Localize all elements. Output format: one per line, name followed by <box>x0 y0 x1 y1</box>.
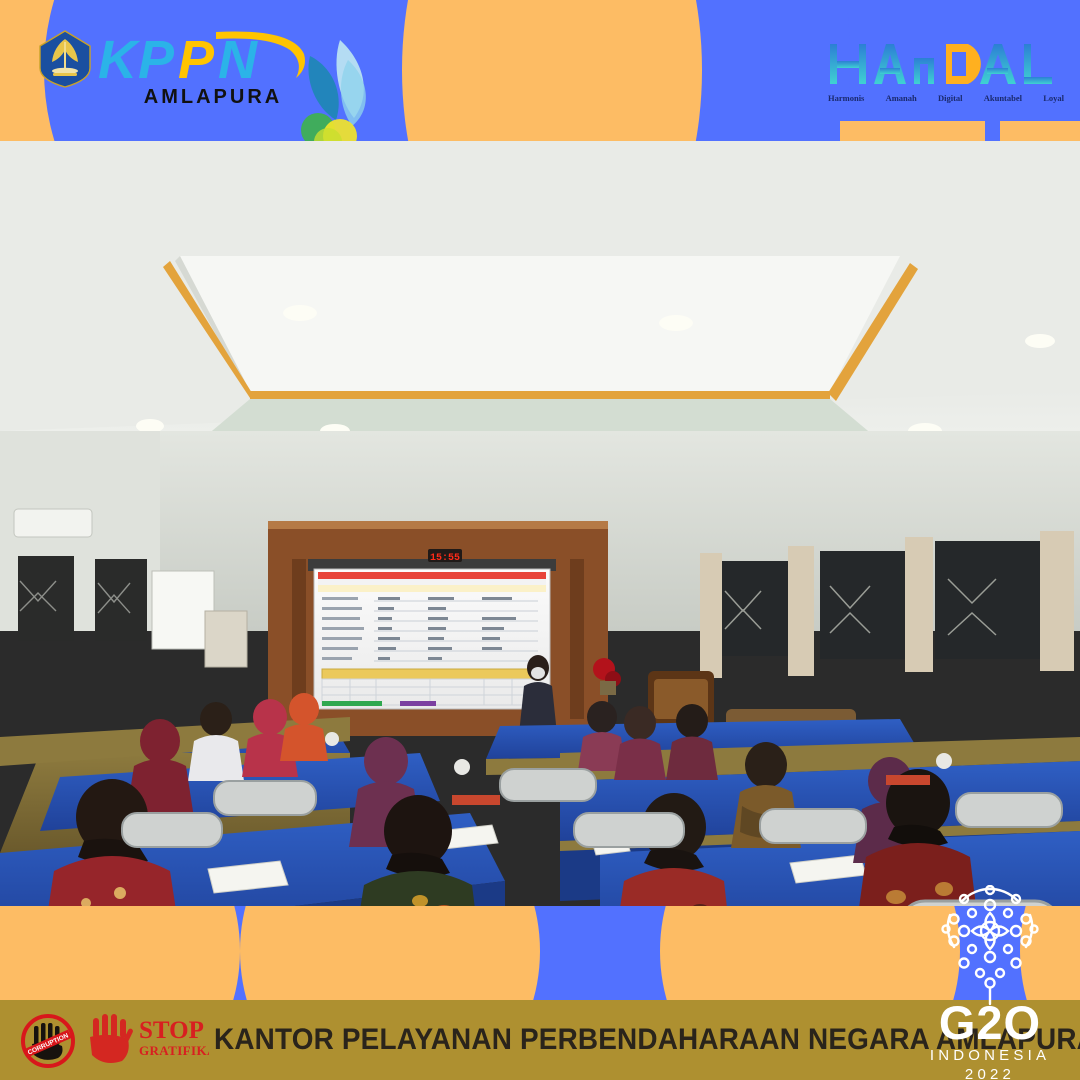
meeting-room-scene: 15:55 <box>0 141 1080 906</box>
decor-petal-2 <box>240 906 540 1000</box>
kppn-logo: K P P N AMLAPURA <box>38 28 358 118</box>
event-photograph: 15:55 <box>0 141 1080 906</box>
g20-main-label: G2O <box>924 1001 1056 1046</box>
g20-year-label: 2022 <box>924 1066 1056 1080</box>
svg-text:P: P <box>178 30 215 90</box>
kemenkeu-emblem <box>38 30 92 88</box>
svg-text:N: N <box>218 30 258 90</box>
handal-value-digital: Digital <box>938 93 963 103</box>
bottom-banner: CORRUPTION STOP GRATIFIKASI KANTOR PELAY… <box>0 1000 1080 1080</box>
g20-country-label: INDONESIA <box>924 1046 1056 1066</box>
stop-gratifikasi-icon: STOP GRATIFIKASI <box>84 1012 209 1070</box>
bottom-decoration-strip <box>0 906 1080 1000</box>
poster-canvas: K P P N AMLAPURA <box>0 0 1080 1080</box>
handal-logo: Harmonis Amanah Digital Akuntabel Loyal <box>828 40 1064 115</box>
handal-values-list: Harmonis Amanah Digital Akuntabel Loyal <box>828 90 1064 106</box>
stop-gratifikasi-line1: STOP <box>139 1017 204 1044</box>
handal-value-amanah: Amanah <box>886 93 917 103</box>
led-clock-display: 15:55 <box>430 553 460 564</box>
stop-gratifikasi-line2: GRATIFIKASI <box>139 1043 209 1058</box>
handal-value-harmonis: Harmonis <box>828 93 864 103</box>
decor-petal-3 <box>660 906 960 1000</box>
svg-text:P: P <box>138 30 175 90</box>
g20-logo-text: G2O INDONESIA 2022 <box>924 1001 1056 1080</box>
top-banner-orange-strip-b <box>1000 121 1080 141</box>
leaf-petal-mark <box>288 38 383 141</box>
svg-text:K: K <box>98 30 141 90</box>
stop-korupsi-icon: CORRUPTION <box>20 1014 76 1068</box>
top-banner-orange-notch <box>402 0 702 141</box>
decor-petal-1 <box>0 906 240 1000</box>
handal-value-akuntabel: Akuntabel <box>984 93 1022 103</box>
top-banner: K P P N AMLAPURA <box>0 0 1080 141</box>
handal-wordmark <box>828 40 1064 88</box>
top-banner-orange-strip-a <box>840 121 985 141</box>
handal-value-loyal: Loyal <box>1043 93 1064 103</box>
